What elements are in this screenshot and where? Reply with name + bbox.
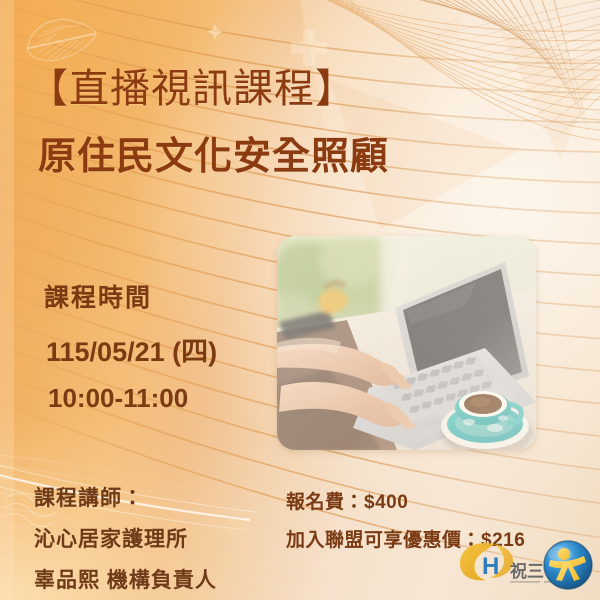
logo-wordmark: 祝三 <box>510 562 544 581</box>
lecturer-name-title: 辜品熙 機構負責人 <box>34 564 217 594</box>
lecturer-organization: 沁心居家護理所 <box>34 523 217 553</box>
poster-canvas: 【直播視訊課程】 原住民文化安全照顧 <box>0 0 600 600</box>
schedule-time: 10:00-11:00 <box>48 383 217 414</box>
logo-group: H 祝三 <box>454 534 594 596</box>
lecturer-label: 課程講師： <box>34 482 217 512</box>
logo-person-mark <box>544 541 592 589</box>
sparkle-icon <box>207 24 223 40</box>
logo-h-mark: H <box>460 543 513 580</box>
logo-svg: H 祝三 <box>454 534 594 596</box>
logo-h-letter: H <box>482 553 499 580</box>
schedule-block: 課程時間 115/05/21 (四) 10:00-11:00 <box>44 278 217 414</box>
page-title: 【直播視訊課程】 原住民文化安全照顧 <box>0 66 460 181</box>
schedule-date: 115/05/21 (四) <box>46 330 217 369</box>
title-subtitle-line: 原住民文化安全照顧 <box>0 135 460 181</box>
schedule-label: 課程時間 <box>44 278 217 314</box>
registration-fee: 報名費：$400 <box>286 487 525 514</box>
laptop-photo-illustration <box>277 236 536 450</box>
title-bracketed-line: 【直播視訊課程】 <box>0 66 460 113</box>
course-photo <box>277 236 536 450</box>
lecturer-block: 課程講師： 沁心居家護理所 辜品熙 機構負責人 <box>34 482 217 594</box>
